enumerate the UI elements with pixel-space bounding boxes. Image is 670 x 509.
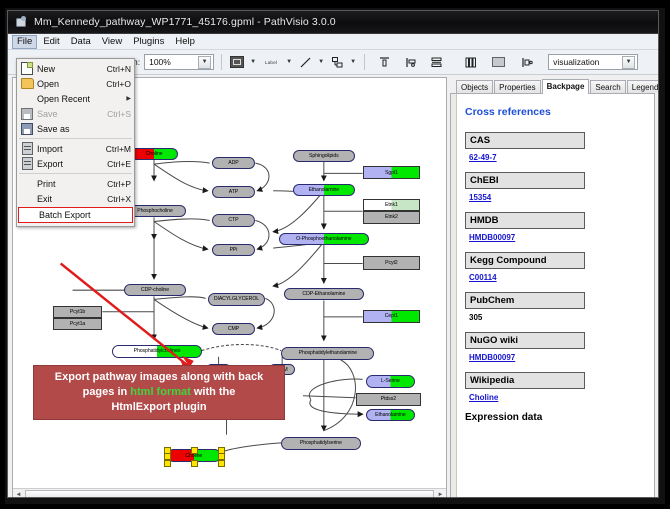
metabolite-node-sphingolipids[interactable]: Sphingolipids [293,150,355,162]
menu-edit[interactable]: Edit [38,35,64,49]
xref-label-hmdb: HMDB [465,212,585,229]
file-menu-shortcut-open: Ctrl+O [106,79,131,89]
xref-value-pubchem: 305 [469,313,646,322]
blank-icon-2 [20,178,34,190]
align-left-icon[interactable] [402,54,418,70]
file-menu-label-export: Export [37,159,101,169]
file-menu-shortcut-save: Ctrl+S [107,109,131,119]
file-menu-item-open-recent[interactable]: Open Recent ▶ [17,91,134,106]
xref-label-chebi: ChEBI [465,172,585,189]
cross-references-heading: Cross references [465,106,646,118]
zoom-combo[interactable]: 100% ▼ [144,54,214,70]
xref-label-pubchem: PubChem [465,292,585,309]
file-menu-shortcut-import: Ctrl+M [106,144,131,154]
file-menu-item-open[interactable]: Open Ctrl+O [17,76,134,91]
node-label: DIACYLGLYCEROL [214,296,259,302]
side-panel: Objects Properties Backpage Search Legen… [450,77,655,498]
title-bar: Mm_Kennedy_pathway_WP1771_45176.gpml - P… [8,11,658,34]
selection-handle[interactable] [191,460,198,467]
app-icon [15,16,28,29]
metabolite-node-ptdcholines[interactable]: Phosphatidylcholines [112,345,201,358]
file-menu-label-import: Import [37,144,100,154]
metabolite-node-ethanolamine2[interactable]: Ethanolamine [366,409,416,421]
file-menu-shortcut-print: Ctrl+P [107,179,131,189]
label-dropdown-icon[interactable]: ▼ [285,59,293,65]
node-label: Sphingolipids [309,153,339,159]
metabolite-node-adp[interactable]: ADP [212,157,256,169]
file-menu-shortcut-export: Ctrl+E [107,159,131,169]
xref-value-kegg[interactable]: C00114 [469,273,646,282]
menu-help[interactable]: Help [170,35,200,49]
pathvisio-window: Mm_Kennedy_pathway_WP1771_45176.gpml - P… [7,10,659,498]
node-label: CDP-choline [141,287,169,293]
canvas-horizontal-scrollbar[interactable]: ◄ ► [13,488,446,498]
gene-node-cept1[interactable]: Cept1 [363,310,421,323]
file-menu-label-save-as: Save as [37,124,125,134]
backpage-gutter [451,94,457,498]
file-menu-item-print[interactable]: Print Ctrl+P [17,176,134,191]
side-panel-tabs: Objects Properties Backpage Search Legen… [450,77,655,93]
scroll-left-icon[interactable]: ◄ [13,490,24,499]
node-label: Phosphatidylserine [300,440,342,446]
gene-node-etnk2[interactable]: Etnk2 [363,211,421,223]
node-label: CMP [228,326,239,332]
align-top-icon[interactable] [376,54,392,70]
tab-legend[interactable]: Legend [627,80,659,93]
screenshot-frame: Mm_Kennedy_pathway_WP1771_45176.gpml - P… [0,0,670,509]
file-menu-label-save: Save [37,109,101,119]
gene-node-etnk1[interactable]: Etnk1 [363,199,421,211]
tab-search[interactable]: Search [590,80,625,93]
file-menu-label-new: New [37,64,101,74]
node-label: Sgpl1 [385,170,398,176]
line-dropdown-icon[interactable]: ▼ [317,59,325,65]
file-menu-shortcut-new: Ctrl+N [107,64,131,74]
new-file-icon [20,63,34,75]
blank-icon [20,93,34,105]
submenu-arrow-icon: ▶ [126,95,131,102]
node-label: Ethanolamine [375,412,406,418]
annotation-line-2c: with the [191,386,236,398]
line-tool-icon[interactable] [297,54,313,70]
xref-value-nugo[interactable]: HMDB00097 [469,353,646,362]
node-label: L-Serine [381,378,400,384]
metabolite-node-atp[interactable]: ATP [212,186,256,198]
file-menu-item-import[interactable]: Import Ctrl+M [17,141,134,156]
blank-icon-4 [22,209,36,221]
tab-backpage[interactable]: Backpage [542,79,590,94]
file-menu-item-exit[interactable]: Exit Ctrl+X [17,191,134,206]
xref-label-cas: CAS [465,132,585,149]
metabolite-node-choline[interactable]: Choline [130,148,178,160]
file-menu-item-batch-export[interactable]: Batch Export [18,207,133,223]
distribute-icon[interactable] [428,54,444,70]
annotation-text: Export pathway images along with back pa… [49,370,269,415]
annotation-line-1: Export pathway images along with back [55,371,263,383]
export-icon [20,158,34,170]
datanode-dropdown-icon[interactable]: ▼ [249,59,257,65]
xref-value-wikipedia[interactable]: Choline [469,393,646,402]
metabolite-node-cmp[interactable]: CMP [212,323,256,335]
scroll-thumb[interactable] [25,490,434,499]
file-menu-separator-1 [19,138,132,139]
common-size-icon[interactable] [462,54,478,70]
file-menu-label-print: Print [37,179,101,189]
chevron-down-icon[interactable]: ▼ [198,56,211,69]
menu-file[interactable]: File [12,35,37,49]
chevron-down-icon-2[interactable]: ▼ [622,56,635,69]
selection-handle[interactable] [218,460,225,467]
node-label: Phosphocholine [137,208,173,214]
node-label: Pcyt1a [70,321,85,327]
node-label: Phosphatidylcholines [134,348,181,354]
backpage-content[interactable]: Cross references CAS 62-49-7 ChEBI 15354… [450,93,655,498]
node-label: Pcyt2 [385,260,397,266]
tab-properties[interactable]: Properties [494,80,540,93]
xref-label-wikipedia: Wikipedia [465,372,585,389]
gene-node-pcyt1b[interactable]: Pcyt1b [53,306,103,318]
node-label: Etnk2 [385,214,398,220]
node-label: Pcyt1b [70,309,85,315]
visualization-combo[interactable]: visualization ▼ [548,54,638,70]
datanode-tool-icon[interactable] [229,54,245,70]
expression-data-heading: Expression data [465,412,646,423]
metabolite-node-ptdethanolamine[interactable]: Phosphatidylethanolamine [281,347,374,360]
tab-objects[interactable]: Objects [456,80,493,93]
gene-node-pcyt1a[interactable]: Pcyt1a [53,318,103,330]
menu-data[interactable]: Data [66,35,96,49]
menu-view[interactable]: View [97,35,127,49]
metabolite-node-ptdserine[interactable]: Phosphatidylserine [281,437,360,450]
node-label: Ethanolamine [309,187,340,193]
node-label: CDP-Ethanolamine [302,291,345,297]
node-label: Choline [146,151,163,157]
metabolite-node-ophosphoetn[interactable]: O-Phosphoethanolamine [279,233,368,245]
metabolite-node-ppi[interactable]: PPi [212,244,256,256]
window-title: Mm_Kennedy_pathway_WP1771_45176.gpml - P… [34,16,336,28]
file-menu-label-exit: Exit [37,194,101,204]
metabolite-node-lserine[interactable]: L-Serine [366,375,416,387]
node-label: PPi [230,247,238,253]
xref-value-hmdb[interactable]: HMDB00097 [469,233,646,242]
xref-value-cas[interactable]: 62-49-7 [469,153,646,162]
file-menu-item-save[interactable]: Save Ctrl+S [17,106,134,121]
metabolite-node-cdpcholine[interactable]: CDP-choline [124,284,186,296]
import-icon [20,143,34,155]
gene-node-sgpl1[interactable]: Sgpl1 [363,166,421,179]
node-label: Ptdss2 [381,396,396,402]
annotation-callout: Export pathway images along with back pa… [33,365,285,420]
annotation-highlight: html format [130,386,191,398]
toolbar-separator [221,54,222,70]
xref-label-nugo: NuGO wiki [465,332,585,349]
file-menu-item-new[interactable]: New Ctrl+N [17,61,134,76]
node-label: O-Phosphoethanolamine [296,236,351,242]
order-icon[interactable] [518,54,534,70]
toolbar-separator-2 [364,54,365,70]
menu-bar: File Edit Data View Plugins Help [8,34,658,50]
label-tool-icon[interactable]: Label [261,54,281,70]
scroll-right-icon[interactable]: ► [435,490,446,499]
file-menu-label-open-recent: Open Recent [37,94,120,104]
file-menu-separator-2 [19,173,132,174]
metabolite-node-cdpethanolamine[interactable]: CDP-Ethanolamine [284,288,363,300]
menu-plugins[interactable]: Plugins [128,35,169,49]
xref-value-chebi[interactable]: 15354 [469,193,646,202]
zoom-value: 100% [149,57,171,67]
node-label: ATP [229,189,238,195]
visualization-value: visualization [553,57,599,67]
annotation-line-3: HtmlExport plugin [111,401,206,413]
file-menu-popup[interactable]: New Ctrl+N Open Ctrl+O Open Recent ▶ Sav… [16,58,135,227]
shape-dropdown-icon[interactable]: ▼ [349,59,357,65]
node-label: Phosphatidylethanolamine [299,350,357,356]
print-icon[interactable] [490,54,506,70]
node-label: CTP [228,217,238,223]
node-label: Choline [185,453,202,459]
metabolite-node-ethanolamine[interactable]: Ethanolamine [293,184,355,196]
metabolite-node-diacylglycerol[interactable]: DIACYLGLYCEROL [208,293,266,305]
annotation-line-2a: pages in [83,386,131,398]
save-as-disk-icon [20,123,34,135]
selection-handle[interactable] [191,447,198,454]
file-menu-item-save-as[interactable]: Save as [17,121,134,136]
gene-node-ptdss2[interactable]: Ptdss2 [356,393,422,406]
shape-tool-icon[interactable] [329,54,345,70]
node-label: Etnk1 [385,202,398,208]
file-menu-label-batch-export: Batch Export [39,210,129,220]
selection-handle[interactable] [164,460,171,467]
file-menu-label-open: Open [37,79,100,89]
blank-icon-3 [20,193,34,205]
open-folder-icon [20,78,34,90]
node-label: Cept1 [385,313,398,319]
node-label: ADP [228,160,238,166]
file-menu-item-export[interactable]: Export Ctrl+E [17,156,134,171]
file-menu-shortcut-exit: Ctrl+X [107,194,131,204]
save-disk-icon [20,108,34,120]
gene-node-pcyt2[interactable]: Pcyt2 [363,256,421,269]
metabolite-node-ctp[interactable]: CTP [212,214,256,226]
xref-label-kegg: Kegg Compound [465,252,585,269]
